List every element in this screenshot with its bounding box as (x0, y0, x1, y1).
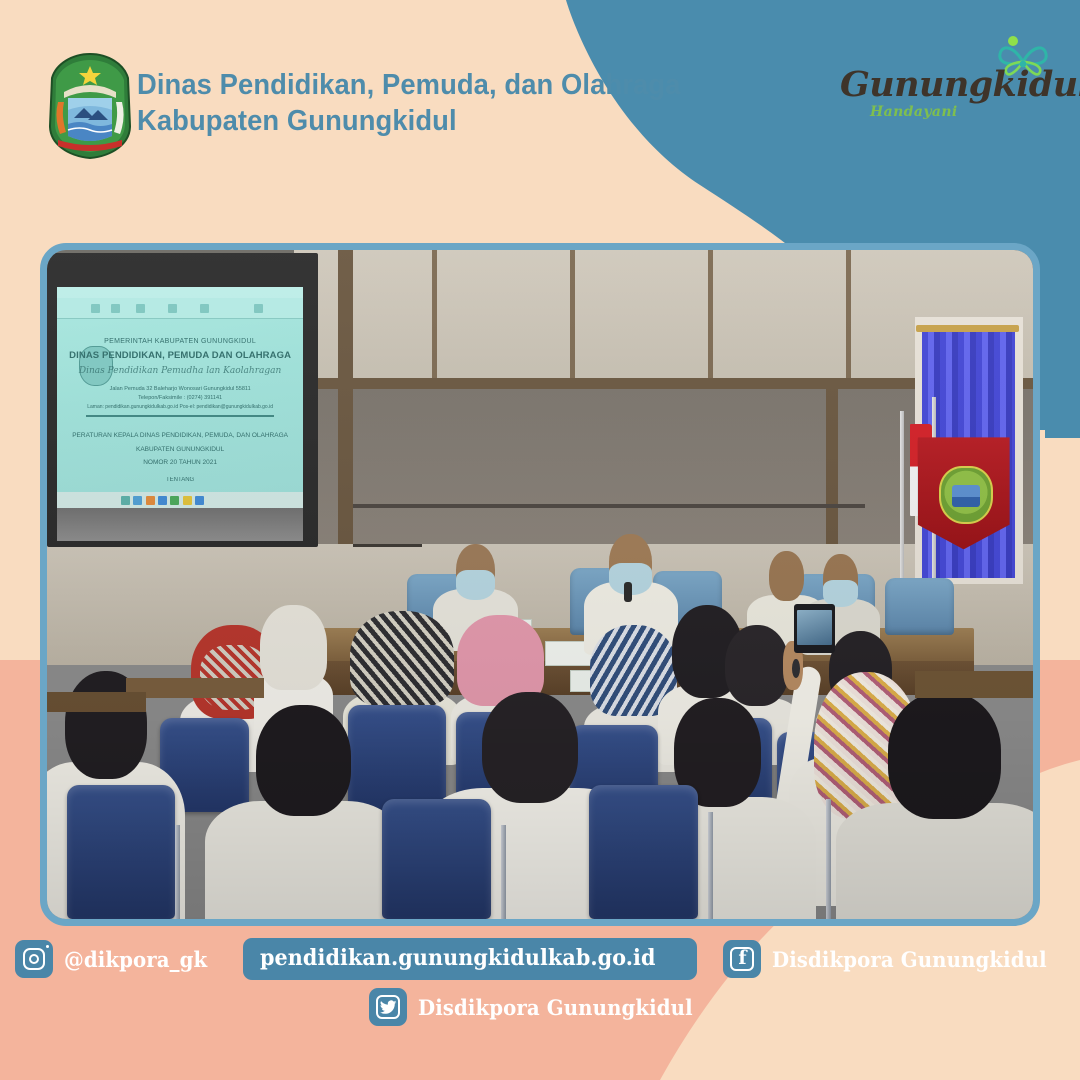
side-desk (126, 678, 264, 698)
audience-chair (67, 785, 175, 919)
facebook-label: Disdikpora Gunungkidul (772, 947, 1047, 972)
twitter-handle[interactable]: Disdikpora Gunungkidul (369, 988, 710, 1026)
projected-address-1: Jalan Pemuda 32 Baleharjo Wonosari Gunun… (57, 386, 304, 392)
page-title-line2: Kabupaten Gunungkidul (137, 103, 713, 139)
projection-surface: PEMERINTAH KABUPATEN GUNUNGKIDUL DINAS P… (57, 287, 304, 508)
facebook-icon[interactable]: f (723, 940, 761, 978)
chair-leg (826, 799, 831, 919)
twitter-bird-glyph (380, 1000, 397, 1015)
instagram-label: @dikpora_gk (64, 947, 207, 972)
front-row-member-right (836, 692, 1033, 919)
social-row-primary: @dikpora_gk pendidikan.gunungkidulkab.go… (0, 938, 1080, 980)
projected-body-1: PERATURAN KEPALA DINAS PENDIDIKAN, PEMUD… (57, 432, 304, 439)
panel-divider (846, 250, 851, 384)
panel-divider (432, 250, 437, 384)
projected-address-3: Laman: pendidikan.gunungkidulkab.go.id P… (57, 404, 304, 410)
side-desk (47, 692, 146, 712)
panel-divider (708, 250, 713, 384)
projected-body-4: TENTANG (57, 477, 304, 483)
twitter-label: Disdikpora Gunungkidul (418, 995, 693, 1020)
curtain-rod (916, 325, 1020, 332)
projected-taskbar (57, 492, 304, 507)
projected-address-2: Telepon/Faksimile : (0274) 391141 (57, 395, 304, 401)
chair-leg (708, 812, 713, 919)
website-label: pendidikan.gunungkidulkab.go.id (260, 945, 656, 971)
side-desk (915, 671, 1033, 698)
screen-lower-shadow (57, 508, 304, 541)
projected-body-2: KABUPATEN GUNUNGKIDUL (57, 446, 304, 453)
chair-leg (501, 825, 506, 919)
smartphone-icon (794, 604, 835, 653)
projected-body-3: NOMOR 20 TAHUN 2021 (57, 459, 304, 466)
event-photo-card: PEMERINTAH KABUPATEN GUNUNGKIDUL DINAS P… (40, 243, 1040, 926)
website-link[interactable]: pendidikan.gunungkidulkab.go.id (243, 938, 698, 980)
panel-divider (570, 250, 575, 384)
front-row-member-2 (205, 705, 402, 919)
wall-rail-line (353, 504, 866, 508)
event-photo: PEMERINTAH KABUPATEN GUNUNGKIDUL DINAS P… (47, 250, 1033, 919)
projected-header-big: DINAS PENDIDIKAN, PEMUDA DAN OLAHRAGA (57, 350, 304, 361)
header-title-block: Dinas Pendidikan, Pemuda, dan Olahraga K… (137, 67, 737, 139)
poster-header: Dinas Pendidikan, Pemuda, dan Olahraga K… (0, 0, 1080, 200)
twitter-icon[interactable] (369, 988, 407, 1026)
projected-header-small: PEMERINTAH KABUPATEN GUNUNGKIDUL (57, 338, 304, 345)
pennant-emblem-icon (939, 466, 993, 524)
brand-wordmark: Gunungkidul (840, 64, 1080, 105)
facebook-handle[interactable]: f Disdikpora Gunungkidul (723, 940, 1064, 978)
gunungkidul-brand-logo: Gunungkidul Handayani (828, 28, 1058, 136)
gunungkidul-coat-of-arms-icon (44, 52, 136, 160)
chair-leg (175, 825, 180, 919)
poster-canvas: Dinas Pendidikan, Pemuda, dan Olahraga K… (0, 0, 1080, 1080)
microphone-icon (624, 582, 632, 601)
instagram-icon[interactable] (15, 940, 53, 978)
projected-script-line: Dinas Pendidikan Pemudha lan Kaolahragan (57, 366, 304, 376)
brand-tagline: Handayani (870, 104, 958, 120)
social-row-secondary: Disdikpora Gunungkidul (0, 988, 1080, 1026)
instagram-handle[interactable]: @dikpora_gk (15, 940, 216, 978)
audience-chair (382, 799, 490, 919)
projected-letterhead-rule (86, 415, 273, 417)
page-title-line1: Dinas Pendidikan, Pemuda, dan Olahraga (137, 67, 713, 103)
projected-app-ribbon (57, 298, 304, 319)
wall-rail-line (353, 544, 422, 547)
poster-footer: @dikpora_gk pendidikan.gunungkidulkab.go… (0, 926, 1080, 1080)
audience-chair (589, 785, 697, 919)
